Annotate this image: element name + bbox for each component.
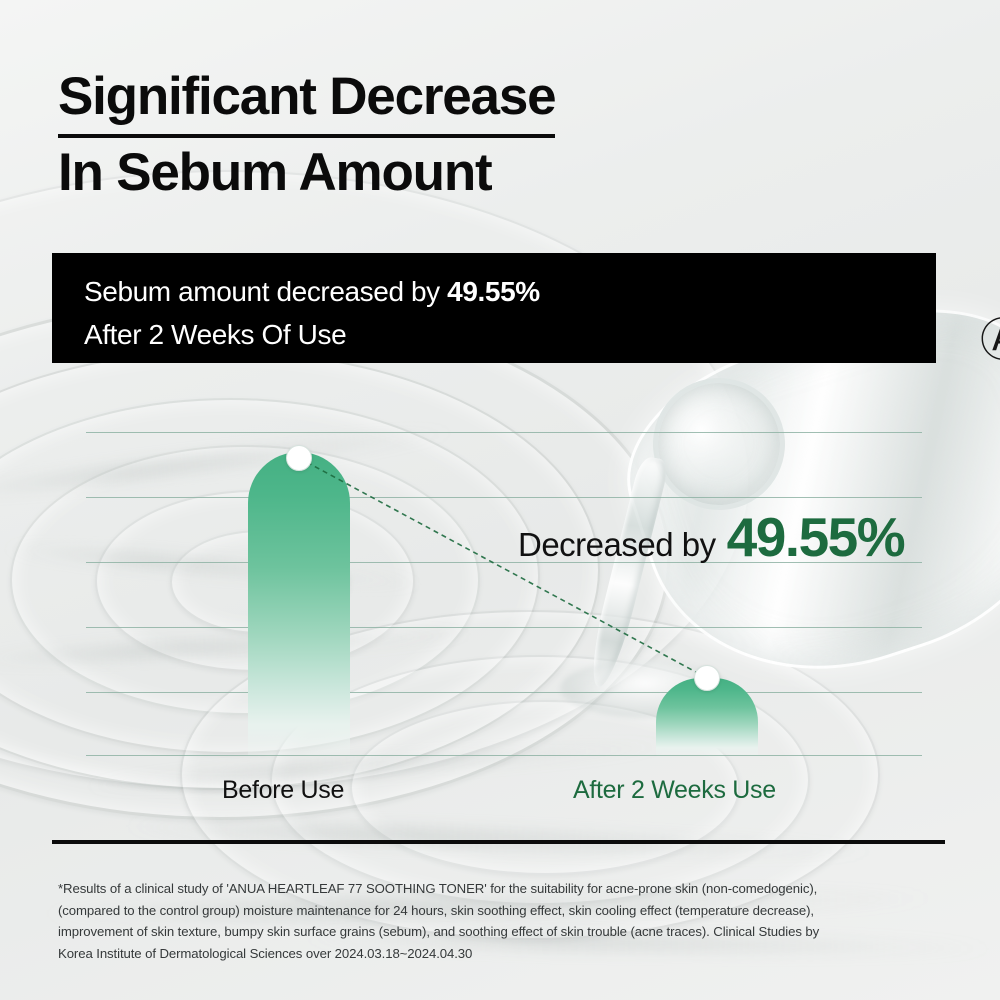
page-title-line-2: In Sebum Amount xyxy=(58,138,758,208)
footer-divider xyxy=(52,840,945,844)
footnote-line-1: *Results of a clinical study of 'ANUA HE… xyxy=(58,878,938,900)
footnote-line-3: improvement of skin texture, bumpy skin … xyxy=(58,921,938,943)
x-axis-label-before-use: Before Use xyxy=(222,776,344,805)
brand-watermark-icon: Ⓐ xyxy=(980,312,1000,368)
page-title-line-1: Significant Decrease xyxy=(58,62,555,138)
data-point-marker-before xyxy=(286,445,312,471)
result-banner-line-1: Sebum amount decreased by 49.55% xyxy=(84,271,936,314)
data-point-marker-after xyxy=(694,665,720,691)
result-banner-prefix: Sebum amount decreased by xyxy=(84,276,447,307)
decrease-callout: Decreased by 49.55% xyxy=(518,505,904,569)
result-banner-value: 49.55% xyxy=(447,276,540,307)
footnote-line-4: Korea Institute of Dermatological Scienc… xyxy=(58,943,938,965)
result-banner: Sebum amount decreased by 49.55% After 2… xyxy=(52,253,936,363)
page-title: Significant Decrease In Sebum Amount xyxy=(58,62,758,208)
footnote: *Results of a clinical study of 'ANUA HE… xyxy=(58,878,938,964)
decrease-callout-prefix: Decreased by xyxy=(518,526,716,564)
footnote-line-2: (compared to the control group) moisture… xyxy=(58,900,938,922)
result-banner-line-2: After 2 Weeks Of Use xyxy=(84,314,936,357)
decrease-callout-value: 49.55% xyxy=(727,505,905,569)
x-axis-label-after-2-weeks-use: After 2 Weeks Use xyxy=(573,776,776,805)
